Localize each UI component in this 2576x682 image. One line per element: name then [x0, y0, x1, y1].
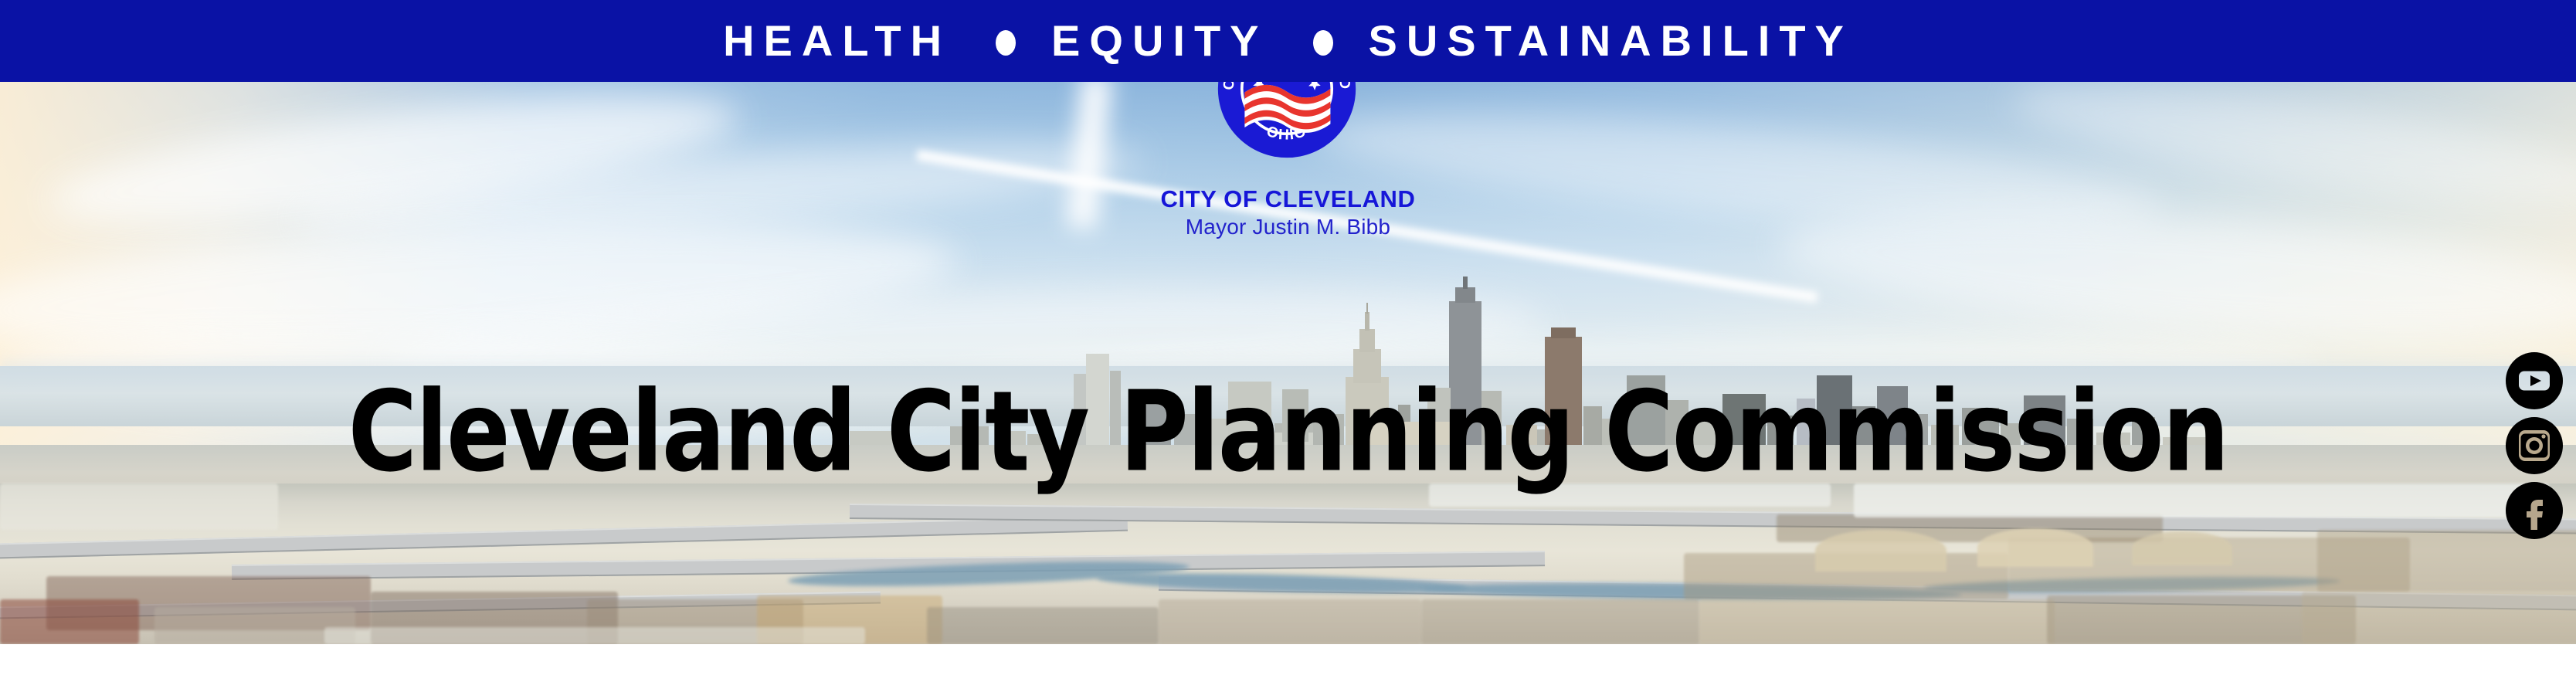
tagline-word-health: HEALTH	[723, 19, 951, 63]
youtube-icon[interactable]	[2505, 351, 2564, 410]
logo-city-name: CITY OF CLEVELAND	[0, 185, 2576, 213]
foreground-valley	[0, 484, 2576, 644]
tagline-banner: HEALTH EQUITY SUSTAINABILITY	[0, 0, 2576, 82]
tagline-word-equity: EQUITY	[1051, 19, 1268, 63]
page-root: HEALTH EQUITY SUSTAINABILITY CITY OF CLE…	[0, 0, 2576, 682]
tagline-text: HEALTH EQUITY SUSTAINABILITY	[723, 19, 1853, 63]
hero-photo	[0, 82, 2576, 644]
bullet-dot-icon	[1313, 30, 1333, 56]
tagline-word-sustainability: SUSTAINABILITY	[1369, 19, 1853, 63]
bullet-dot-icon	[996, 30, 1016, 56]
bottom-white-strip	[0, 644, 2576, 682]
cuyahoga-river	[1097, 570, 1468, 597]
logo-mayor-name: Mayor Justin M. Bibb	[0, 215, 2576, 239]
page-title: Cleveland City Planning Commission	[0, 376, 2576, 487]
facebook-icon[interactable]	[2505, 481, 2564, 540]
instagram-icon[interactable]	[2505, 416, 2564, 475]
social-links	[2504, 351, 2564, 540]
